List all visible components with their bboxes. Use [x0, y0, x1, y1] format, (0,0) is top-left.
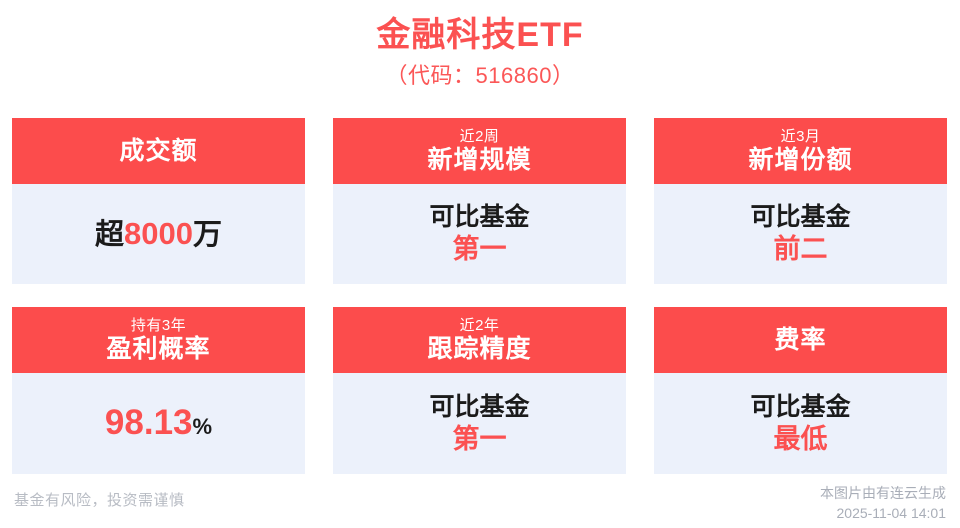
card-value-bottom-tracking-accuracy: 第一	[453, 423, 507, 455]
card-value-top-tracking-accuracy: 可比基金	[429, 392, 529, 422]
metric-card-grid: 成交额 超8000万 近2周 新增规模 可比基金 第一 近3月 新增份额	[12, 118, 948, 474]
card-header-turnover: 成交额	[12, 118, 305, 184]
card-header-new-scale: 近2周 新增规模	[333, 118, 626, 184]
card-value-top-fee-rate: 可比基金	[750, 392, 850, 422]
card-title-new-shares: 新增份额	[748, 145, 852, 176]
card-value-turnover: 超8000万	[95, 215, 222, 253]
card-subtitle-tracking-accuracy: 近2年	[460, 317, 500, 334]
percent-value: 98.13	[105, 403, 193, 442]
card-value-top-new-shares: 可比基金	[750, 202, 850, 232]
card-header-fee-rate: 费率	[654, 307, 947, 373]
card-subtitle-profit-probability: 持有3年	[131, 317, 186, 334]
card-title-turnover: 成交额	[119, 136, 197, 167]
metric-card-new-scale: 近2周 新增规模 可比基金 第一	[333, 118, 626, 284]
card-value-bottom-fee-rate: 最低	[774, 423, 828, 455]
card-title-new-scale: 新增规模	[427, 145, 531, 176]
percent-sign: %	[193, 414, 213, 439]
card-header-new-shares: 近3月 新增份额	[654, 118, 947, 184]
card-value-bottom-new-scale: 第一	[453, 233, 507, 265]
metric-card-new-shares: 近3月 新增份额 可比基金 前二	[654, 118, 947, 284]
credit-timestamp: 2025-11-04 14:01	[820, 503, 946, 523]
credit-source: 本图片由有连云生成	[820, 483, 946, 503]
card-header-profit-probability: 持有3年 盈利概率	[12, 307, 305, 373]
page-title: 金融科技ETF	[0, 14, 960, 57]
card-body-tracking-accuracy: 可比基金 第一	[333, 373, 626, 474]
card-title-tracking-accuracy: 跟踪精度	[427, 334, 531, 365]
card-body-new-scale: 可比基金 第一	[333, 184, 626, 284]
risk-disclaimer: 基金有风险，投资需谨慎	[14, 480, 185, 511]
card-subtitle-new-scale: 近2周	[460, 128, 500, 145]
card-value-profit-probability: 98.13%	[105, 404, 212, 443]
card-subtitle-new-shares: 近3月	[781, 128, 821, 145]
value-prefix: 超	[95, 219, 124, 251]
metric-card-profit-probability: 持有3年 盈利概率 98.13%	[12, 307, 305, 474]
metric-card-turnover: 成交额 超8000万	[12, 118, 305, 284]
card-body-fee-rate: 可比基金 最低	[654, 373, 947, 474]
fund-code-subtitle: （代码：516860）	[0, 63, 960, 89]
card-value-top-new-scale: 可比基金	[429, 202, 529, 232]
card-value-bottom-new-shares: 前二	[774, 233, 828, 265]
generation-credit: 本图片由有连云生成 2025-11-04 14:01	[820, 480, 946, 524]
value-number: 8000	[124, 216, 193, 251]
card-title-profit-probability: 盈利概率	[106, 334, 210, 365]
card-header-tracking-accuracy: 近2年 跟踪精度	[333, 307, 626, 373]
poster-footer: 基金有风险，投资需谨慎 本图片由有连云生成 2025-11-04 14:01	[0, 480, 960, 528]
etf-infographic-poster: 金融科技ETF （代码：516860） 成交额 超8000万 近2周 新增规模 …	[0, 0, 960, 528]
metric-card-fee-rate: 费率 可比基金 最低	[654, 307, 947, 474]
value-suffix: 万	[193, 219, 222, 251]
card-body-new-shares: 可比基金 前二	[654, 184, 947, 284]
card-title-fee-rate: 费率	[774, 325, 826, 356]
card-body-profit-probability: 98.13%	[12, 373, 305, 474]
card-body-turnover: 超8000万	[12, 184, 305, 284]
poster-header: 金融科技ETF （代码：516860）	[0, 0, 960, 89]
metric-card-tracking-accuracy: 近2年 跟踪精度 可比基金 第一	[333, 307, 626, 474]
